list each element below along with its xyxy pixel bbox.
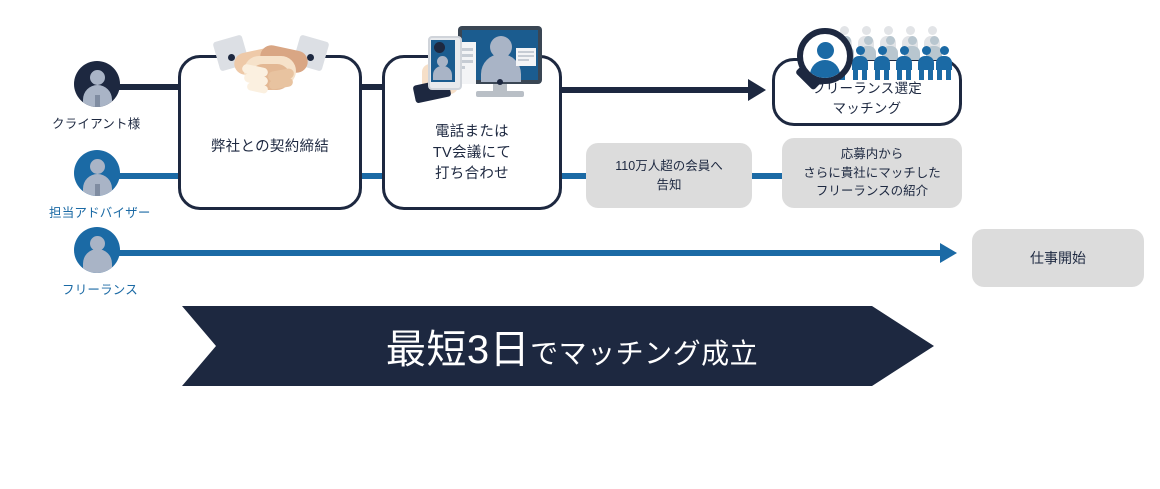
- actor-adviser-label: 担当アドバイザー: [49, 202, 151, 221]
- step-card-contract-label: 弊社との契約締結: [211, 107, 329, 158]
- arrowhead-to-start-work-icon: [940, 243, 957, 263]
- result-banner-suffix: でマッチング成立: [530, 332, 758, 372]
- person-avatar-icon: [74, 61, 120, 107]
- actor-freelance[interactable]: フリーランス: [74, 227, 138, 298]
- connector-freelance-to-start-work: [110, 250, 950, 256]
- person-avatar-icon: [74, 227, 120, 273]
- actor-freelance-label: フリーランス: [62, 279, 138, 298]
- result-banner-text: 最短3日 でマッチング成立: [386, 317, 758, 375]
- actor-adviser[interactable]: 担当アドバイザー: [74, 150, 151, 221]
- arrowhead-to-matching-icon: [748, 79, 766, 101]
- diagram-canvas: クライアント様 担当アドバイザー フリーランス 弊社との契約締結: [0, 0, 1160, 489]
- note-start-work: 仕事開始: [972, 229, 1144, 287]
- person-avatar-icon: [74, 150, 120, 196]
- actor-client[interactable]: クライアント様: [74, 61, 140, 132]
- note-introduce: 応募内から さらに貴社にマッチした フリーランスの紹介: [782, 138, 962, 208]
- result-banner-highlight: 最短3日: [386, 317, 530, 375]
- result-banner: 最短3日 でマッチング成立: [182, 306, 934, 386]
- magnifier-icon: [789, 26, 861, 98]
- note-start-work-label: 仕事開始: [1030, 248, 1086, 269]
- connector-meeting-to-matching: [556, 87, 748, 93]
- connector-announce-to-introduce: [752, 173, 782, 179]
- video-call-icon: [414, 20, 546, 115]
- note-announce-label: 110万人超の会員へ 告知: [615, 157, 722, 195]
- note-introduce-label: 応募内から さらに貴社にマッチした フリーランスの紹介: [803, 145, 941, 201]
- note-announce: 110万人超の会員へ 告知: [586, 143, 752, 208]
- actor-client-label: クライアント様: [52, 113, 140, 132]
- handshake-icon: [212, 26, 330, 98]
